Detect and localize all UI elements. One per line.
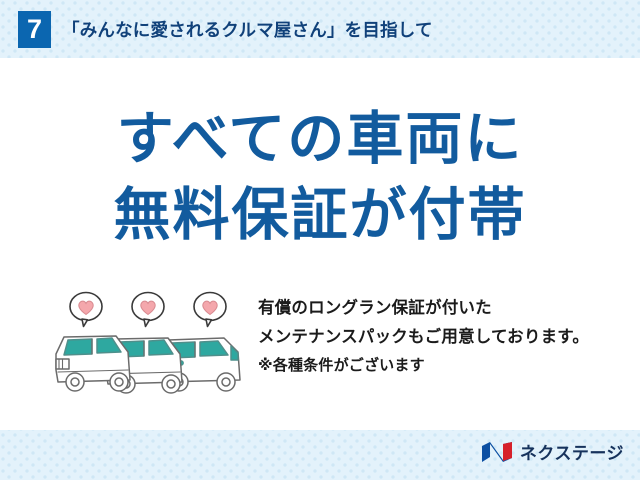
brand-name: ネクステージ bbox=[520, 439, 624, 464]
car-kei-minivan bbox=[56, 336, 130, 391]
headline-line-1: すべての車両に bbox=[0, 102, 640, 178]
promo-banner: 7 「みんなに愛されるクルマ屋さん」を目指して すべての車両に 無料保証が付帯 bbox=[0, 0, 640, 480]
car-group bbox=[48, 330, 248, 396]
banner-header: 7 「みんなに愛されるクルマ屋さん」を目指して bbox=[0, 0, 640, 58]
headline-line-2: 無料保証が付帯 bbox=[0, 178, 640, 254]
brand-logo: ネクステージ bbox=[481, 439, 624, 464]
lower-section: 有償のロングラン保証が付いた メンテナンスパックもご用意しております。 ※各種条… bbox=[0, 286, 640, 430]
body-line-2: メンテナンスパックもご用意しております。 bbox=[258, 323, 638, 352]
heart-bubble-icon bbox=[66, 289, 106, 329]
banner-footer: ネクステージ bbox=[0, 430, 640, 480]
cars-illustration bbox=[48, 286, 248, 396]
content-card: すべての車両に 無料保証が付帯 bbox=[0, 58, 640, 430]
heart-bubble-icon bbox=[190, 289, 230, 329]
body-line-1: 有償のロングラン保証が付いた bbox=[258, 294, 638, 323]
headline: すべての車両に 無料保証が付帯 bbox=[0, 102, 640, 254]
heart-bubbles-group bbox=[58, 286, 248, 336]
body-copy: 有償のロングラン保証が付いた メンテナンスパックもご用意しております。 ※各種条… bbox=[258, 294, 638, 379]
page-title: 「みんなに愛されるクルマ屋さん」を目指して bbox=[62, 17, 433, 42]
body-note: ※各種条件がございます bbox=[258, 353, 638, 380]
section-number-badge: 7 bbox=[18, 11, 51, 48]
nextage-n-icon bbox=[481, 440, 513, 464]
heart-bubble-icon bbox=[128, 289, 168, 329]
